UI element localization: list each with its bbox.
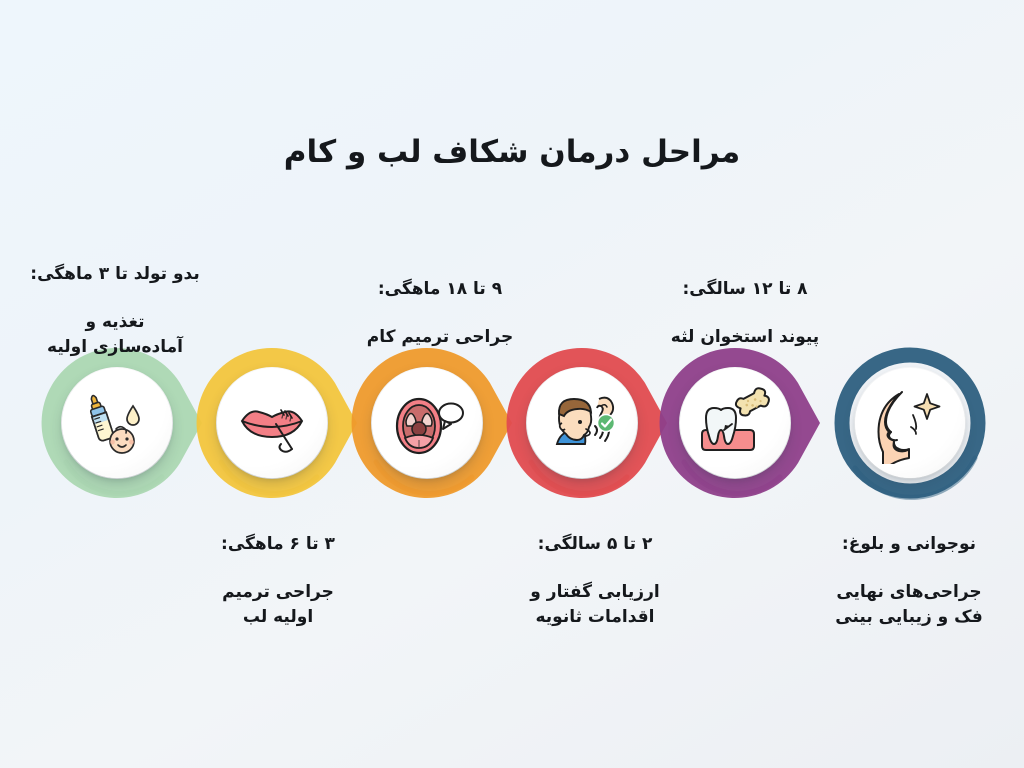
step-heading-4: ۲ تا ۵ سالگی: <box>490 532 700 556</box>
step-icon-disc-5 <box>680 368 790 478</box>
step-icon-disc-4 <box>527 368 637 478</box>
step-icon-disc-1 <box>62 368 172 478</box>
timeline-step-6[interactable] <box>825 338 995 508</box>
step-icon-disc-3 <box>372 368 482 478</box>
step-heading-1: بدو تولد تا ۳ ماهگی: <box>0 262 230 286</box>
step-icon-disc-2 <box>217 368 327 478</box>
step-label-2: ۳ تا ۶ ماهگی: جراحی ترمیم اولیه لب <box>178 508 378 653</box>
tooth-bone-graft-icon <box>694 382 776 464</box>
timeline-step-2[interactable] <box>187 338 357 508</box>
step-body-4: ارزیابی گفتار و اقدامات ثانویه <box>490 580 700 628</box>
step-label-6: نوجوانی و بلوغ: جراحی‌های نهایی فک و زیب… <box>794 508 1024 653</box>
lips-suture-icon <box>232 383 312 463</box>
infographic-root: مراحل درمان شکاف لب و کام <box>0 0 1024 768</box>
timeline-track: بدو تولد تا ۳ ماهگی: تغذیه و آماده‌سازی … <box>0 0 1024 768</box>
step-heading-2: ۳ تا ۶ ماهگی: <box>178 532 378 556</box>
step-heading-5: ۸ تا ۱۲ سالگی: <box>635 277 855 301</box>
step-heading-6: نوجوانی و بلوغ: <box>794 532 1024 556</box>
step-icon-disc-6 <box>855 368 965 478</box>
step-body-5: پیوند استخوان لثه <box>635 325 855 349</box>
step-label-4: ۲ تا ۵ سالگی: ارزیابی گفتار و اقدامات ثا… <box>490 508 700 653</box>
step-body-2: جراحی ترمیم اولیه لب <box>178 580 378 628</box>
child-speech-icon <box>541 382 623 464</box>
step-heading-3: ۹ تا ۱۸ ماهگی: <box>335 277 545 301</box>
open-mouth-icon <box>386 382 468 464</box>
step-body-6: جراحی‌های نهایی فک و زیبایی بینی <box>794 580 1024 628</box>
face-profile-sparkle-icon <box>869 382 951 464</box>
baby-bottle-icon <box>78 384 156 462</box>
step-label-5: ۸ تا ۱۲ سالگی: پیوند استخوان لثه <box>635 253 855 374</box>
